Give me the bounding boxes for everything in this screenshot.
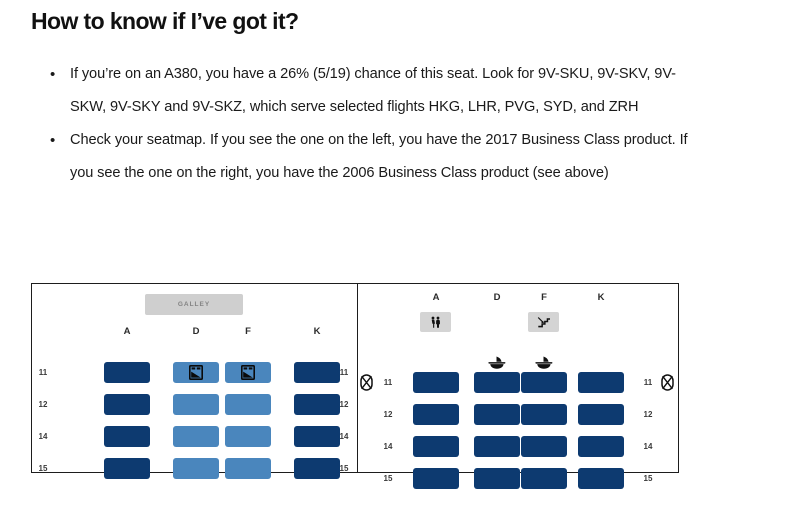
seat-11K[interactable]	[578, 372, 624, 393]
row-number-14-left: 14	[379, 442, 397, 451]
row-number-14-left: 14	[34, 432, 52, 441]
row-number-11-left: 11	[34, 368, 52, 377]
row-number-12-left: 12	[379, 410, 397, 419]
column-letter-d: D	[485, 292, 509, 303]
exit-door-icon-left	[360, 374, 373, 391]
seat-12D[interactable]	[474, 404, 520, 425]
column-letter-f: F	[532, 292, 556, 303]
bassinet-icon	[532, 354, 556, 370]
seat-12A[interactable]	[104, 394, 150, 415]
seat-14D[interactable]	[173, 426, 219, 447]
page-title: How to know if I’ve got it?	[31, 8, 298, 35]
seat-15A[interactable]	[104, 458, 150, 479]
row-number-14-right: 14	[639, 442, 657, 451]
seatmap-2017: GALLEY ADFK 1111121214141515	[32, 284, 358, 472]
lavatory-icon	[420, 312, 451, 332]
bassinet-seat-icon	[189, 365, 203, 380]
seat-11A[interactable]	[104, 362, 150, 383]
seat-15K[interactable]	[294, 458, 340, 479]
column-letter-k: K	[305, 326, 329, 337]
row-number-15-left: 15	[379, 474, 397, 483]
list-item: Check your seatmap. If you see the one o…	[70, 124, 710, 190]
seat-15F[interactable]	[521, 468, 567, 489]
seat-11A[interactable]	[413, 372, 459, 393]
seat-14A[interactable]	[104, 426, 150, 447]
row-number-11-left: 11	[379, 378, 397, 387]
seat-11D[interactable]	[474, 372, 520, 393]
seat-12F[interactable]	[225, 394, 271, 415]
bassinet-seat-icon	[241, 365, 255, 380]
seat-15K[interactable]	[578, 468, 624, 489]
seat-11K[interactable]	[294, 362, 340, 383]
row-number-15-left: 15	[34, 464, 52, 473]
seat-14D[interactable]	[474, 436, 520, 457]
seat-11F[interactable]	[521, 372, 567, 393]
list-item: If you’re on an A380, you have a 26% (5/…	[70, 58, 710, 124]
seatmap-comparison-panel: GALLEY ADFK 1111121214141515 ADFK 111112…	[31, 283, 679, 473]
exit-door-icon-right	[661, 374, 674, 391]
seatmap-2006: ADFK 1111121214141515	[358, 284, 678, 472]
seat-11F[interactable]	[225, 362, 271, 383]
seat-12F[interactable]	[521, 404, 567, 425]
column-letter-a: A	[115, 326, 139, 337]
seat-15A[interactable]	[413, 468, 459, 489]
seat-14A[interactable]	[413, 436, 459, 457]
seat-12K[interactable]	[578, 404, 624, 425]
row-number-12-right: 12	[335, 400, 353, 409]
stairs-down-icon	[528, 312, 559, 332]
column-letter-f: F	[236, 326, 260, 337]
column-letter-k: K	[589, 292, 613, 303]
seat-15D[interactable]	[474, 468, 520, 489]
row-number-11-right: 11	[335, 368, 353, 377]
row-number-12-right: 12	[639, 410, 657, 419]
seat-14F[interactable]	[225, 426, 271, 447]
seat-14K[interactable]	[578, 436, 624, 457]
seat-11D[interactable]	[173, 362, 219, 383]
column-letter-a: A	[424, 292, 448, 303]
galley-block: GALLEY	[145, 294, 243, 315]
seat-12K[interactable]	[294, 394, 340, 415]
seat-14F[interactable]	[521, 436, 567, 457]
seat-15F[interactable]	[225, 458, 271, 479]
seat-12D[interactable]	[173, 394, 219, 415]
bassinet-icon	[485, 354, 509, 370]
row-number-14-right: 14	[335, 432, 353, 441]
row-number-15-right: 15	[639, 474, 657, 483]
row-number-15-right: 15	[335, 464, 353, 473]
info-bullet-list: If you’re on an A380, you have a 26% (5/…	[48, 58, 710, 190]
seat-14K[interactable]	[294, 426, 340, 447]
seat-15D[interactable]	[173, 458, 219, 479]
column-letter-d: D	[184, 326, 208, 337]
row-number-11-right: 11	[639, 378, 657, 387]
row-number-12-left: 12	[34, 400, 52, 409]
galley-label: GALLEY	[178, 301, 210, 308]
seat-12A[interactable]	[413, 404, 459, 425]
